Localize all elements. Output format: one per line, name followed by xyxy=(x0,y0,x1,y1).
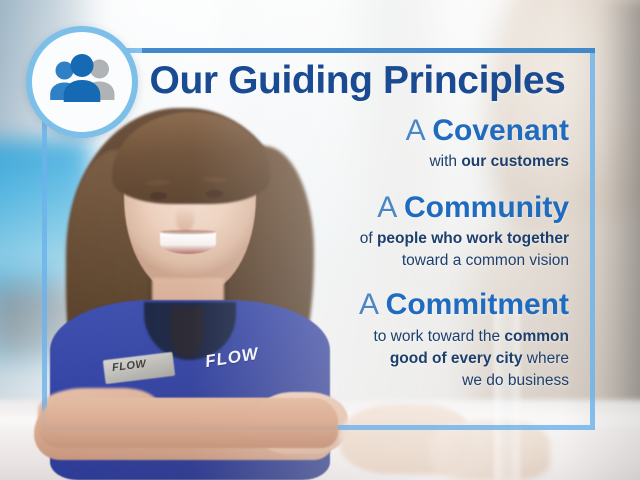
principle-keyword: Commitment xyxy=(386,288,569,321)
principle-subtext-line: we do business xyxy=(42,370,569,392)
principle-subtext-segment: to work toward the xyxy=(373,328,504,345)
principle-subtext-segment-bold: our customers xyxy=(461,153,569,170)
principle-keyword: Community xyxy=(404,191,569,224)
principle-item-community: A Community of people who work together … xyxy=(42,191,569,272)
principle-subtext-segment: we do business xyxy=(462,372,569,389)
principle-subtext-segment: where xyxy=(522,350,569,367)
principle-heading-commitment: A Commitment xyxy=(42,288,569,322)
principle-subtext-segment-bold: common xyxy=(504,328,569,345)
principle-subtext-segment-bold: people who work together xyxy=(377,230,569,247)
principle-subtext-line: with our customers xyxy=(42,151,569,173)
principle-subtext-line: toward a common vision xyxy=(42,250,569,272)
principle-item-commitment: A Commitment to work toward the common g… xyxy=(42,288,569,391)
principle-subtext-line: to work toward the common xyxy=(42,326,569,348)
principle-keyword: Covenant xyxy=(432,114,569,147)
principle-heading-covenant: A Covenant xyxy=(42,114,569,148)
principle-subtext-community: of people who work together toward a com… xyxy=(42,228,569,272)
principle-item-covenant: A Covenant with our customers xyxy=(42,114,569,173)
guiding-principles-graphic: FLOW FLOW Our xyxy=(0,0,640,480)
principle-subtext-segment: with xyxy=(429,153,461,170)
principle-subtext-covenant: with our customers xyxy=(42,151,569,173)
principles-content: Our Guiding Principles A Covenant with o… xyxy=(42,48,595,430)
page-title: Our Guiding Principles xyxy=(42,56,569,102)
principle-subtext-commitment: to work toward the common good of every … xyxy=(42,326,569,392)
principle-subtext-segment-bold: good of every city xyxy=(390,350,523,367)
principle-subtext-line: good of every city where xyxy=(42,348,569,370)
principle-article: A xyxy=(359,288,377,321)
principle-article: A xyxy=(406,114,424,147)
principle-subtext-line: of people who work together xyxy=(42,228,569,250)
principle-article: A xyxy=(377,191,395,224)
principle-subtext-segment: toward a common vision xyxy=(402,252,569,269)
principle-heading-community: A Community xyxy=(42,191,569,225)
principle-subtext-segment: of xyxy=(360,230,377,247)
